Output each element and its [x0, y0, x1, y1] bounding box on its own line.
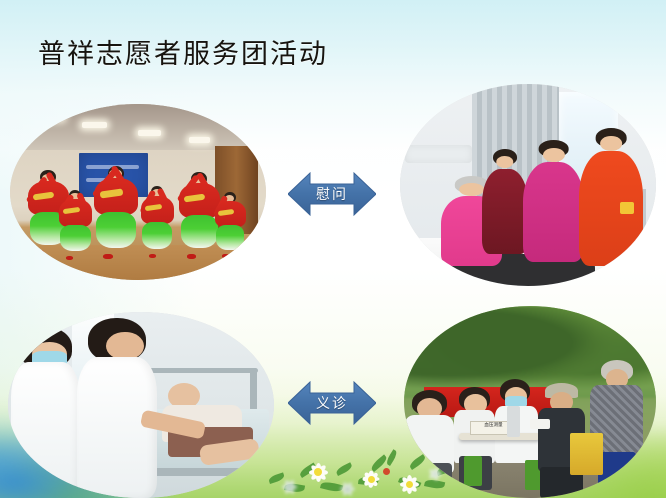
slide-canvas: 普祥志愿者服务团活动 [0, 0, 666, 498]
photo-dance-performance [10, 104, 266, 280]
arrow-condolence-visit-label: 慰问 [316, 184, 348, 204]
arrow-free-clinic-label: 义诊 [316, 393, 348, 413]
photo-bedside-care [8, 312, 274, 498]
photo-hospital-visit [400, 84, 656, 286]
photo-outdoor-free-clinic: 血压测量 [404, 306, 656, 498]
page-title: 普祥志愿者服务团活动 [38, 38, 328, 72]
flower-icon [382, 467, 391, 476]
flower-icon [362, 470, 380, 488]
flower-icon [340, 482, 354, 496]
flower-icon [308, 462, 328, 482]
flower-icon [282, 479, 297, 494]
arrow-free-clinic[interactable]: 义诊 [288, 377, 376, 429]
arrow-condolence-visit[interactable]: 慰问 [288, 168, 376, 220]
